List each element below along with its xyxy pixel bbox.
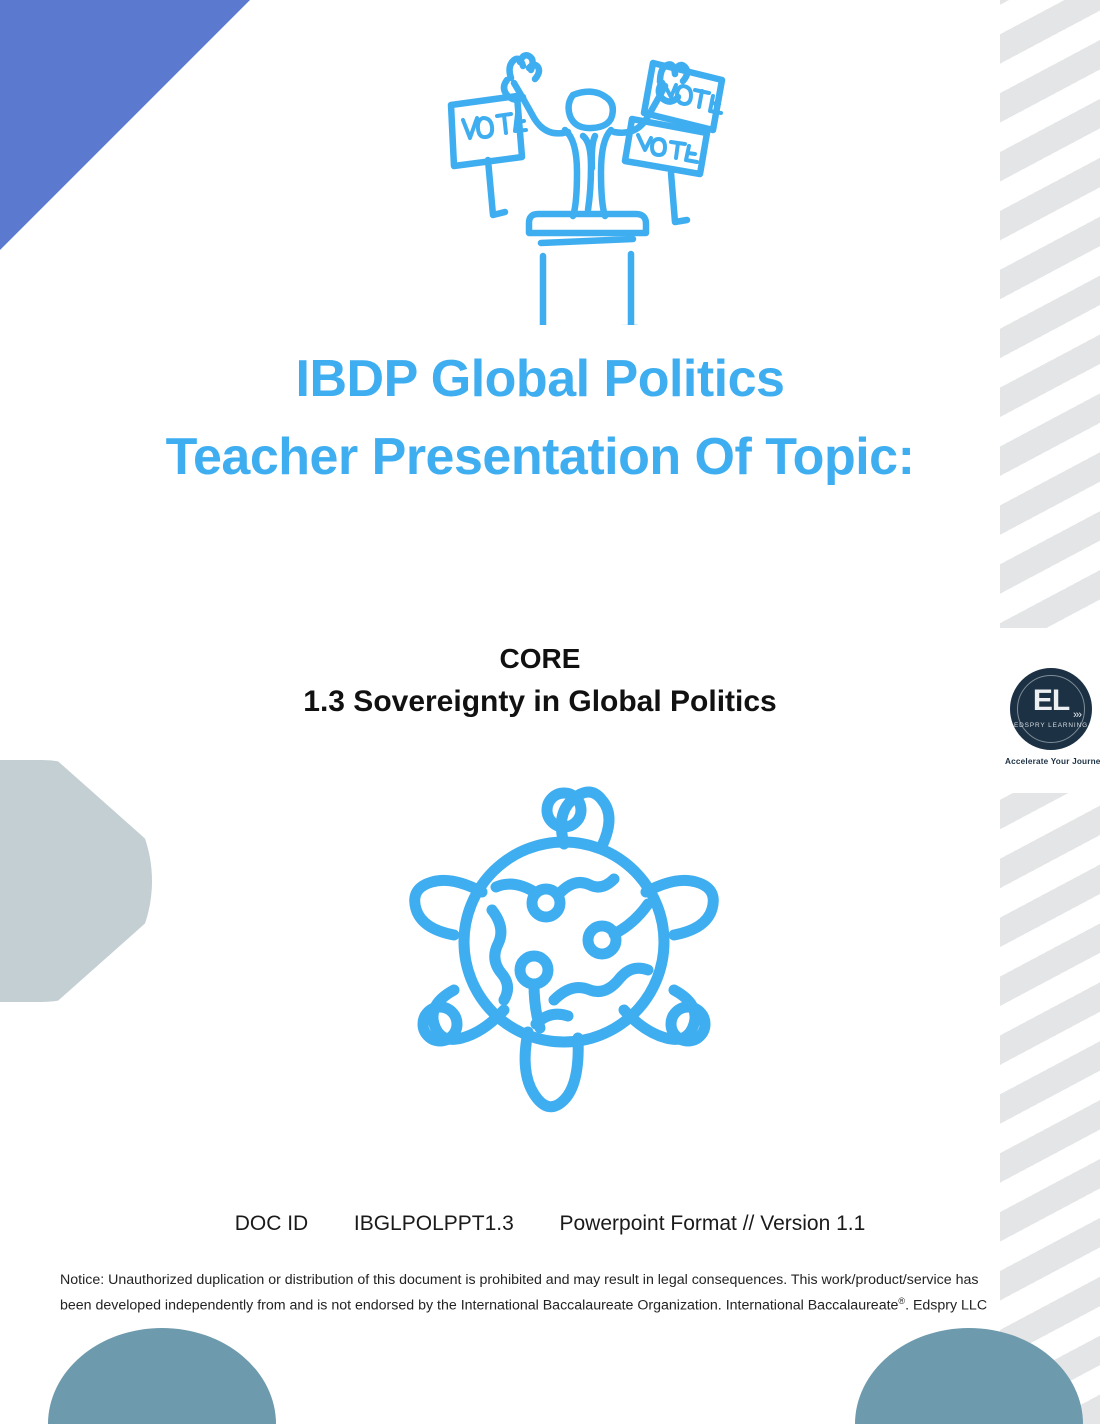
- bottom-arch-right-decoration: [855, 1328, 1083, 1424]
- podium-vote-icon: [425, 40, 745, 325]
- notice-suffix: . Edspry LLC: [905, 1297, 987, 1313]
- subtitle: CORE 1.3 Sovereignty in Global Politics: [60, 638, 1020, 724]
- format-version: Powerpoint Format // Version 1.1: [559, 1212, 865, 1236]
- chevrons-icon: ›››: [1073, 710, 1081, 721]
- left-arrow-shape-decoration: [0, 760, 152, 1002]
- brand-logo: EL ››› EDSPRY LEARNING Accelerate Your J…: [1005, 668, 1097, 766]
- document-cover-page: IBDP Global Politics Teacher Presentatio…: [0, 0, 1100, 1424]
- logo-tagline: Accelerate Your Journey: [1005, 757, 1097, 766]
- core-label: CORE: [60, 638, 1020, 680]
- doc-meta-row: DOC ID IBGLPOLPPT1.3 Powerpoint Format /…: [0, 1212, 1100, 1236]
- title-line-2: Teacher Presentation Of Topic:: [60, 418, 1020, 496]
- global-network-globe-icon: [408, 762, 720, 1122]
- bottom-arch-left-decoration: [48, 1328, 276, 1424]
- doc-id-label: DOC ID: [235, 1212, 309, 1236]
- logo-company-name: EDSPRY LEARNING: [1012, 722, 1090, 729]
- page-title: IBDP Global Politics Teacher Presentatio…: [60, 340, 1020, 496]
- legal-notice: Notice: Unauthorized duplication or dist…: [60, 1270, 990, 1316]
- corner-triangle-decoration: [0, 0, 250, 250]
- doc-id-value: IBGLPOLPPT1.3: [354, 1212, 514, 1236]
- notice-text: Notice: Unauthorized duplication or dist…: [60, 1272, 978, 1313]
- title-line-1: IBDP Global Politics: [60, 340, 1020, 418]
- logo-circle: EL ››› EDSPRY LEARNING: [1010, 668, 1092, 750]
- topic-title: 1.3 Sovereignty in Global Politics: [60, 680, 1020, 724]
